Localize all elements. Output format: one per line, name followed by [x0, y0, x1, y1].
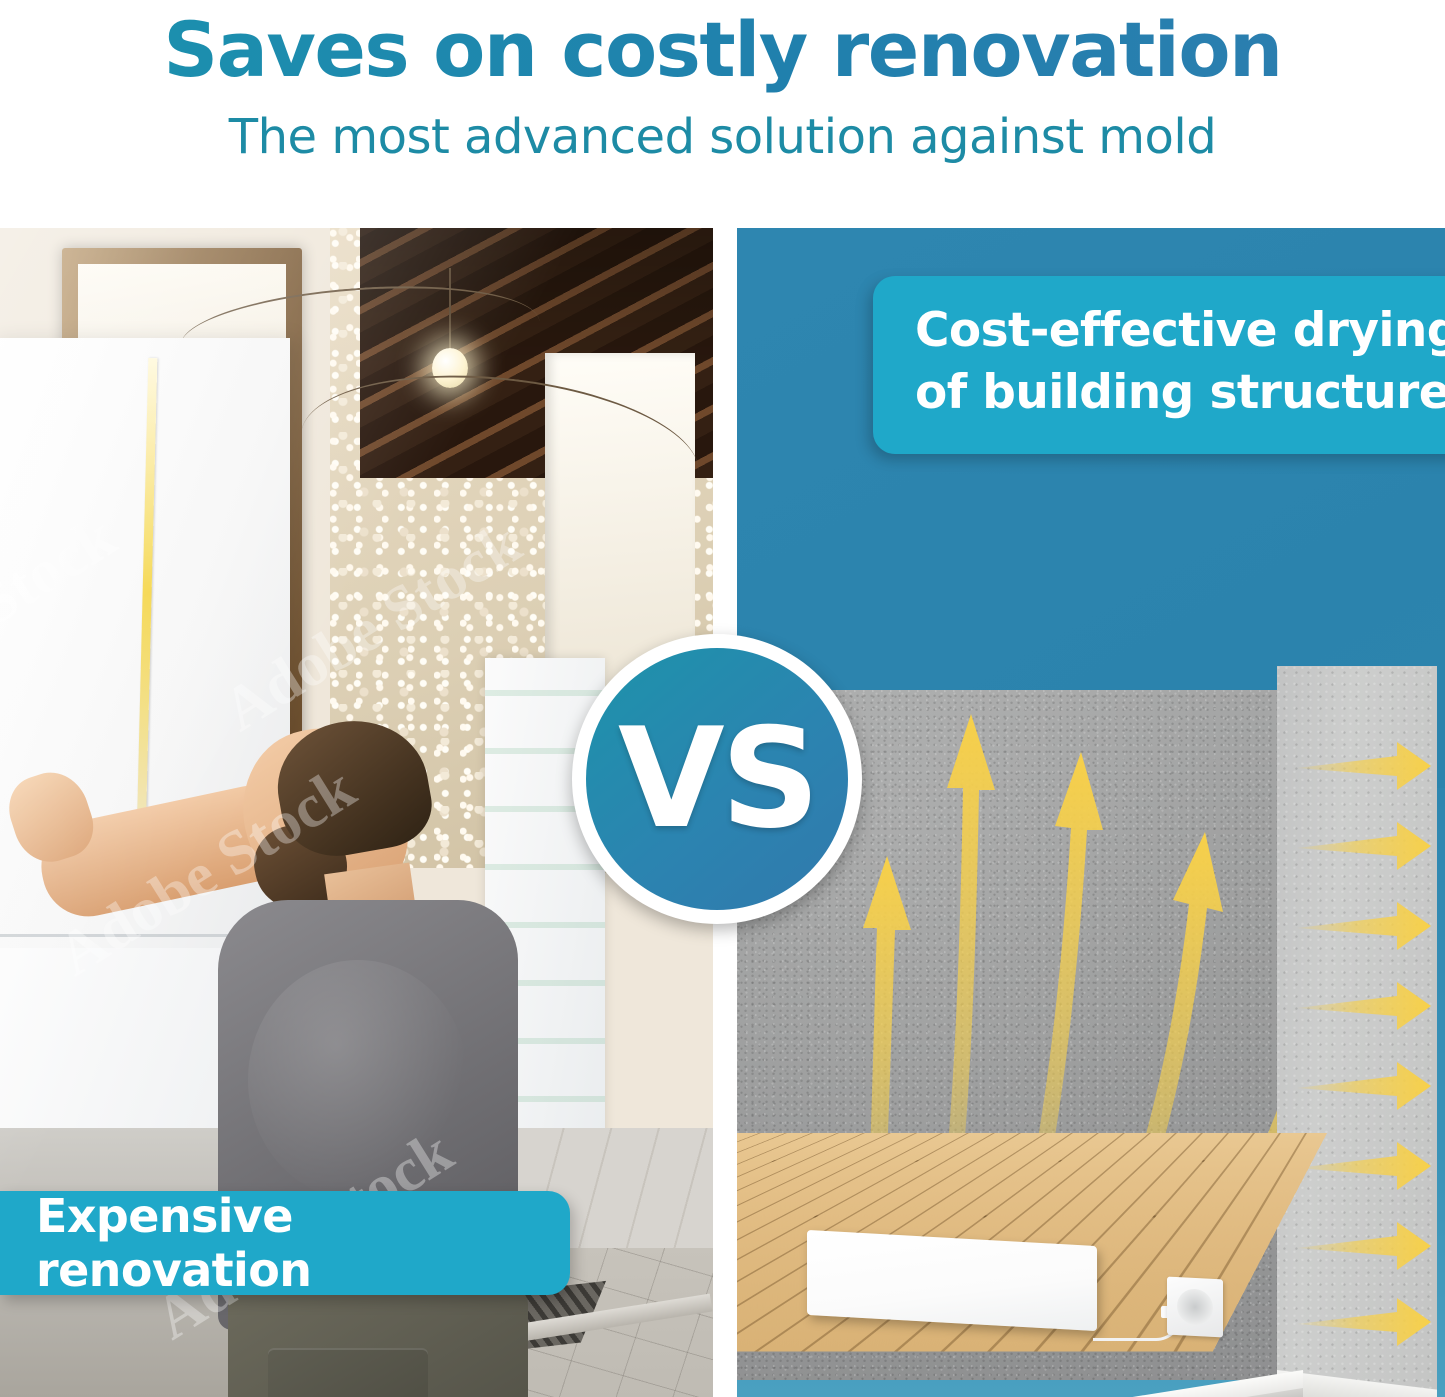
right-banner: Cost-effective drying of building struct…: [873, 276, 1445, 454]
heating-panel: [807, 1230, 1097, 1331]
header: Saves on costly renovation The most adva…: [0, 0, 1445, 228]
vs-label: VS: [618, 710, 816, 848]
worker-pocket: [268, 1348, 428, 1397]
wall-outlet-icon: [1167, 1277, 1223, 1338]
left-banner: Expensive renovation: [0, 1191, 570, 1295]
vs-badge-inner: VS: [586, 648, 848, 910]
page-subtitle: The most advanced solution against mold: [0, 106, 1445, 168]
page-title: Saves on costly renovation: [0, 4, 1445, 96]
vs-badge: VS: [572, 634, 862, 924]
promo-graphic: Saves on costly renovation The most adva…: [0, 0, 1445, 1397]
